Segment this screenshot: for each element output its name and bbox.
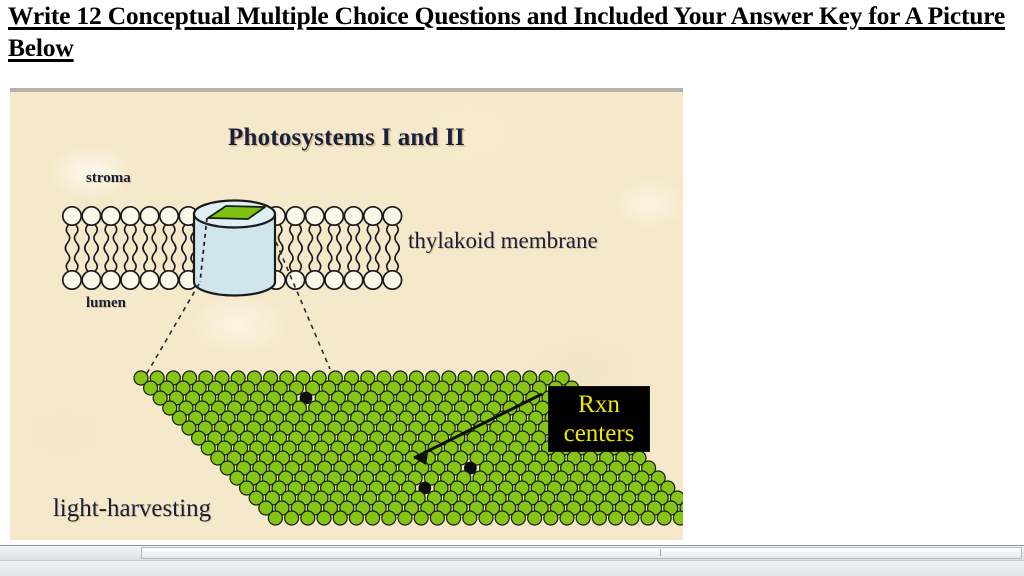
pigment-molecule-icon <box>268 511 282 525</box>
pigment-molecule-icon <box>333 511 347 525</box>
pigment-molecule-icon <box>430 511 444 525</box>
pigment-molecule-icon <box>511 511 525 525</box>
page-title-text: Write 12 Conceptual Multiple Choice Ques… <box>8 1 1005 62</box>
label-antenna-complex: light-harvesting (antenna) complex <box>18 434 246 540</box>
pigment-molecule-icon <box>382 511 396 525</box>
rxn-centers-callout: Rxn centers <box>548 386 650 452</box>
phospholipid-bilayer-right <box>267 207 402 289</box>
rxn-callout-line-2: centers <box>549 419 649 448</box>
label-lumen: lumen <box>86 295 126 312</box>
status-bar <box>0 560 1024 576</box>
label-stroma: stroma <box>86 170 131 187</box>
pigment-molecule-icon <box>398 511 412 525</box>
pigment-molecule-icon <box>414 511 428 525</box>
pigment-molecule-icon <box>349 511 363 525</box>
pigment-molecule-icon <box>447 511 461 525</box>
pigment-molecule-icon <box>544 511 558 525</box>
pigment-molecule-icon <box>609 511 623 525</box>
pigment-molecule-icon <box>463 511 477 525</box>
horizontal-scrollbar[interactable] <box>0 545 1024 560</box>
scroll-grip-icon <box>660 549 661 556</box>
pigment-molecule-icon <box>528 511 542 525</box>
page-title: Write 12 Conceptual Multiple Choice Ques… <box>8 0 1018 64</box>
label-thylakoid-membrane: thylakoid membrane <box>408 228 598 254</box>
pigment-molecule-icon <box>301 511 315 525</box>
pigment-molecule-icon <box>576 511 590 525</box>
pigment-molecule-icon <box>625 511 639 525</box>
phospholipid-bilayer-left <box>63 207 198 289</box>
pigment-molecule-icon <box>673 511 683 525</box>
slide-image[interactable]: Photosystems I and II <box>10 88 683 540</box>
photosystem-cylinder-icon <box>194 201 275 296</box>
label-antenna-line-1: light-harvesting <box>18 494 246 524</box>
pigment-molecule-icon <box>592 511 606 525</box>
pigment-molecule-icon <box>285 511 299 525</box>
pigment-molecule-icon <box>560 511 574 525</box>
pigment-molecule-icon <box>657 511 671 525</box>
rxn-callout-line-1: Rxn <box>549 390 649 419</box>
horizontal-scrollbar-thumb[interactable] <box>141 547 1022 559</box>
pigment-molecule-icon <box>495 511 509 525</box>
pigment-molecule-icon <box>641 511 655 525</box>
pigment-molecule-icon <box>317 511 331 525</box>
pigment-molecule-icon <box>479 511 493 525</box>
pigment-molecule-icon <box>366 511 380 525</box>
